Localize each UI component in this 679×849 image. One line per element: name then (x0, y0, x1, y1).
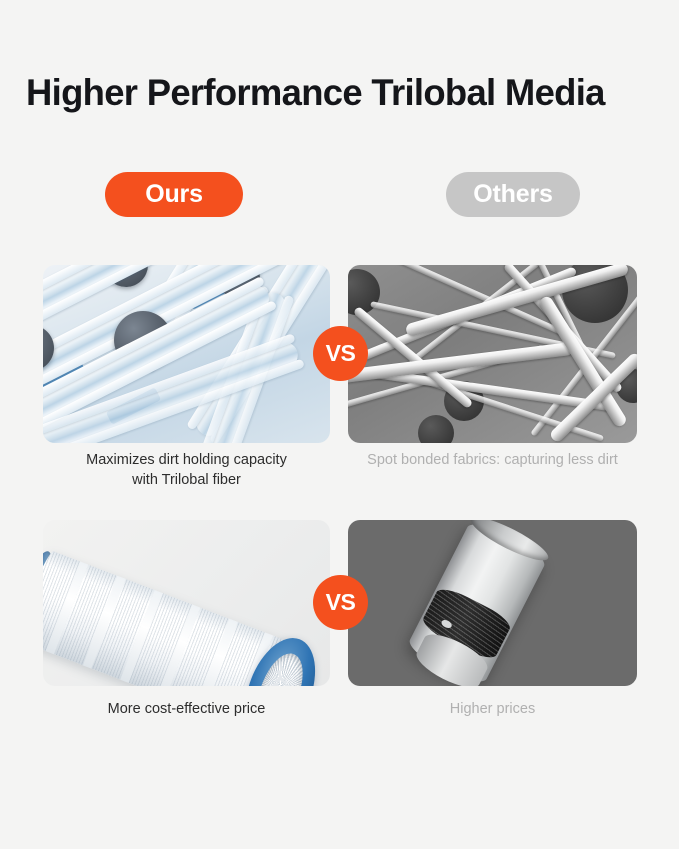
image-trilobal-fiber (43, 265, 330, 443)
image-pleated-cartridge (43, 520, 330, 686)
caption-line: Spot bonded fabrics: capturing less dirt (348, 450, 637, 470)
infographic-page: Higher Performance Trilobal Media Ours O… (0, 0, 679, 849)
cartridge-band (158, 604, 201, 686)
caption-line: Maximizes dirt holding capacity (43, 450, 330, 470)
caption-line: Higher prices (348, 699, 637, 719)
badge-ours: Ours (105, 172, 243, 217)
caption-others-bottom: Higher prices (348, 699, 637, 719)
caption-others-top: Spot bonded fabrics: capturing less dirt (348, 450, 637, 470)
cartridge-band (195, 619, 238, 686)
cartridge-band (46, 561, 89, 654)
vs-badge-bottom: VS (313, 575, 368, 630)
caption-ours-bottom: More cost-effective price (43, 699, 330, 719)
badge-others: Others (446, 172, 580, 217)
image-gray-cartridge (348, 520, 637, 686)
page-title: Higher Performance Trilobal Media (26, 70, 656, 116)
image-spot-bonded-fabric (348, 265, 637, 443)
caption-line: More cost-effective price (43, 699, 330, 719)
gray-cartridge-illustration (405, 520, 550, 686)
caption-ours-top: Maximizes dirt holding capacity with Tri… (43, 450, 330, 490)
trilobal-illustration (43, 265, 330, 443)
cartridge-illustration (43, 549, 298, 686)
badge-row: Ours Others (0, 172, 679, 218)
cartridge-band (83, 576, 126, 669)
caption-line: with Trilobal fiber (43, 470, 330, 490)
vs-badge-top: VS (313, 326, 368, 381)
cartridge-band (120, 590, 163, 683)
dirt-particle (418, 415, 454, 443)
